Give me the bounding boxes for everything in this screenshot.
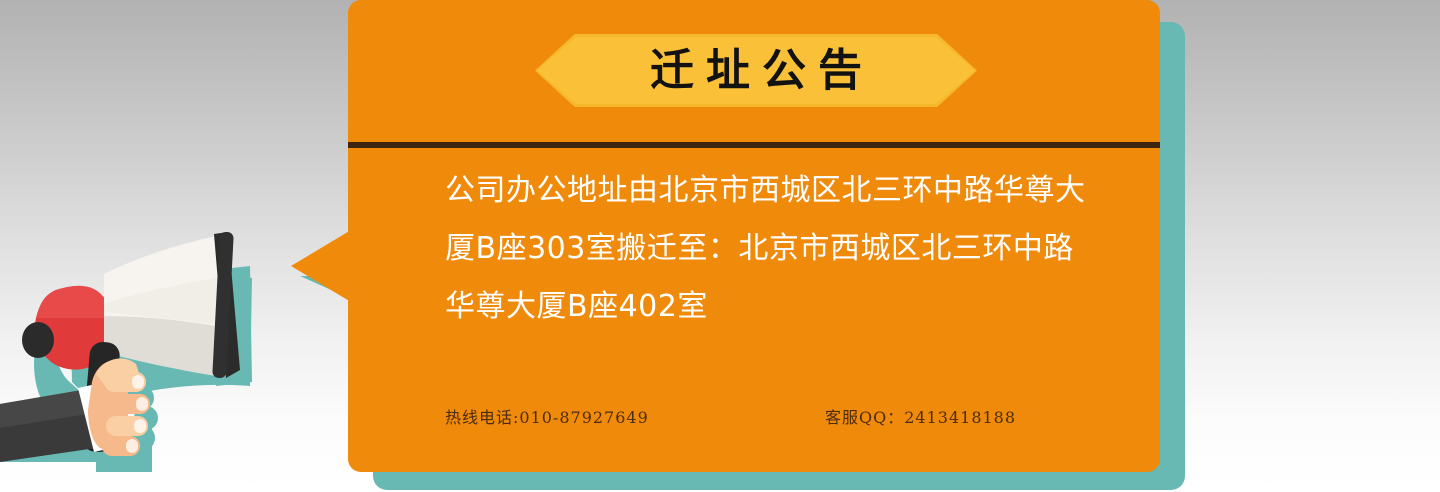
customer-service-qq: 客服QQ：2413418188 xyxy=(825,404,1016,428)
hotline-phone: 热线电话:010-87927649 xyxy=(445,404,825,428)
title-banner: 迁址公告 xyxy=(537,37,975,104)
announcement-body-text: 公司办公地址由北京市西城区北三环中路华尊大厦B座303室搬迁至：北京市西城区北三… xyxy=(445,162,1095,336)
speech-bubble-tail xyxy=(291,230,351,302)
announcement-card: 迁址公告 公司办公地址由北京市西城区北三环中路华尊大厦B座303室搬迁至：北京市… xyxy=(348,0,1160,472)
hand-holding-megaphone-illustration xyxy=(0,186,330,492)
announcement-banner-stage: 迁址公告 公司办公地址由北京市西城区北三环中路华尊大厦B座303室搬迁至：北京市… xyxy=(0,0,1440,492)
page-title: 迁址公告 xyxy=(638,49,874,93)
contact-footer: 热线电话:010-87927649 客服QQ：2413418188 xyxy=(445,404,1105,428)
header-divider xyxy=(348,142,1160,148)
